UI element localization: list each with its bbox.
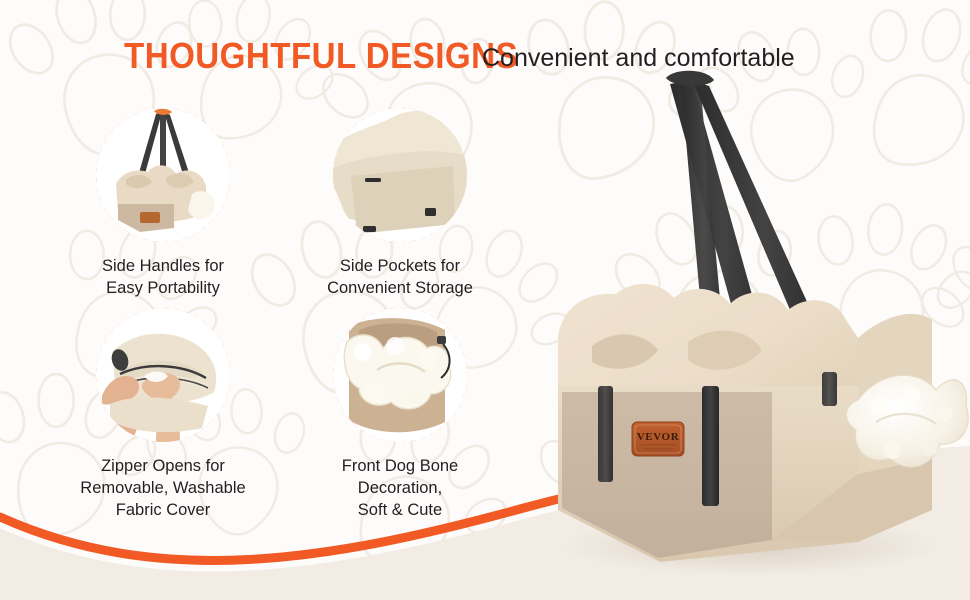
page-subtitle: Convenient and comfortable (482, 46, 795, 71)
feature-zipper-cover: Zipper Opens for Removable, Washable Fab… (43, 308, 283, 522)
fluffy-dog-bone-decoration-photo (333, 308, 467, 442)
hands-unzipping-cover-photo (96, 308, 230, 442)
pet-car-seat-with-handles-photo (96, 108, 230, 242)
feature-dog-bone: Front Dog Bone Decoration, Soft & Cute (280, 308, 520, 522)
page-title: THOUGHTFUL DESIGNS (124, 38, 518, 74)
feature-caption: Side Handles for Easy Portability (43, 256, 283, 300)
feature-circle-frame (96, 308, 230, 442)
feature-caption: Zipper Opens for Removable, Washable Fab… (43, 456, 283, 522)
feature-circle-frame (333, 308, 467, 442)
feature-side-pockets: Side Pockets for Convenient Storage (280, 108, 520, 300)
feature-circle-frame (333, 108, 467, 242)
svg-text:VEVOR: VEVOR (637, 431, 680, 443)
feature-caption: Front Dog Bone Decoration, Soft & Cute (280, 456, 520, 522)
infographic-canvas: VEVOR THOUGHTFUL DESIGNS Convenient and … (0, 0, 970, 600)
vevor-logo-patch: VEVOR (632, 422, 684, 456)
feature-caption: Side Pockets for Convenient Storage (280, 256, 520, 300)
feature-circle-frame (96, 108, 230, 242)
side-pocket-closeup-photo (333, 108, 467, 242)
hero-product-image: VEVOR (540, 70, 970, 600)
feature-side-handles: Side Handles for Easy Portability (43, 108, 283, 300)
